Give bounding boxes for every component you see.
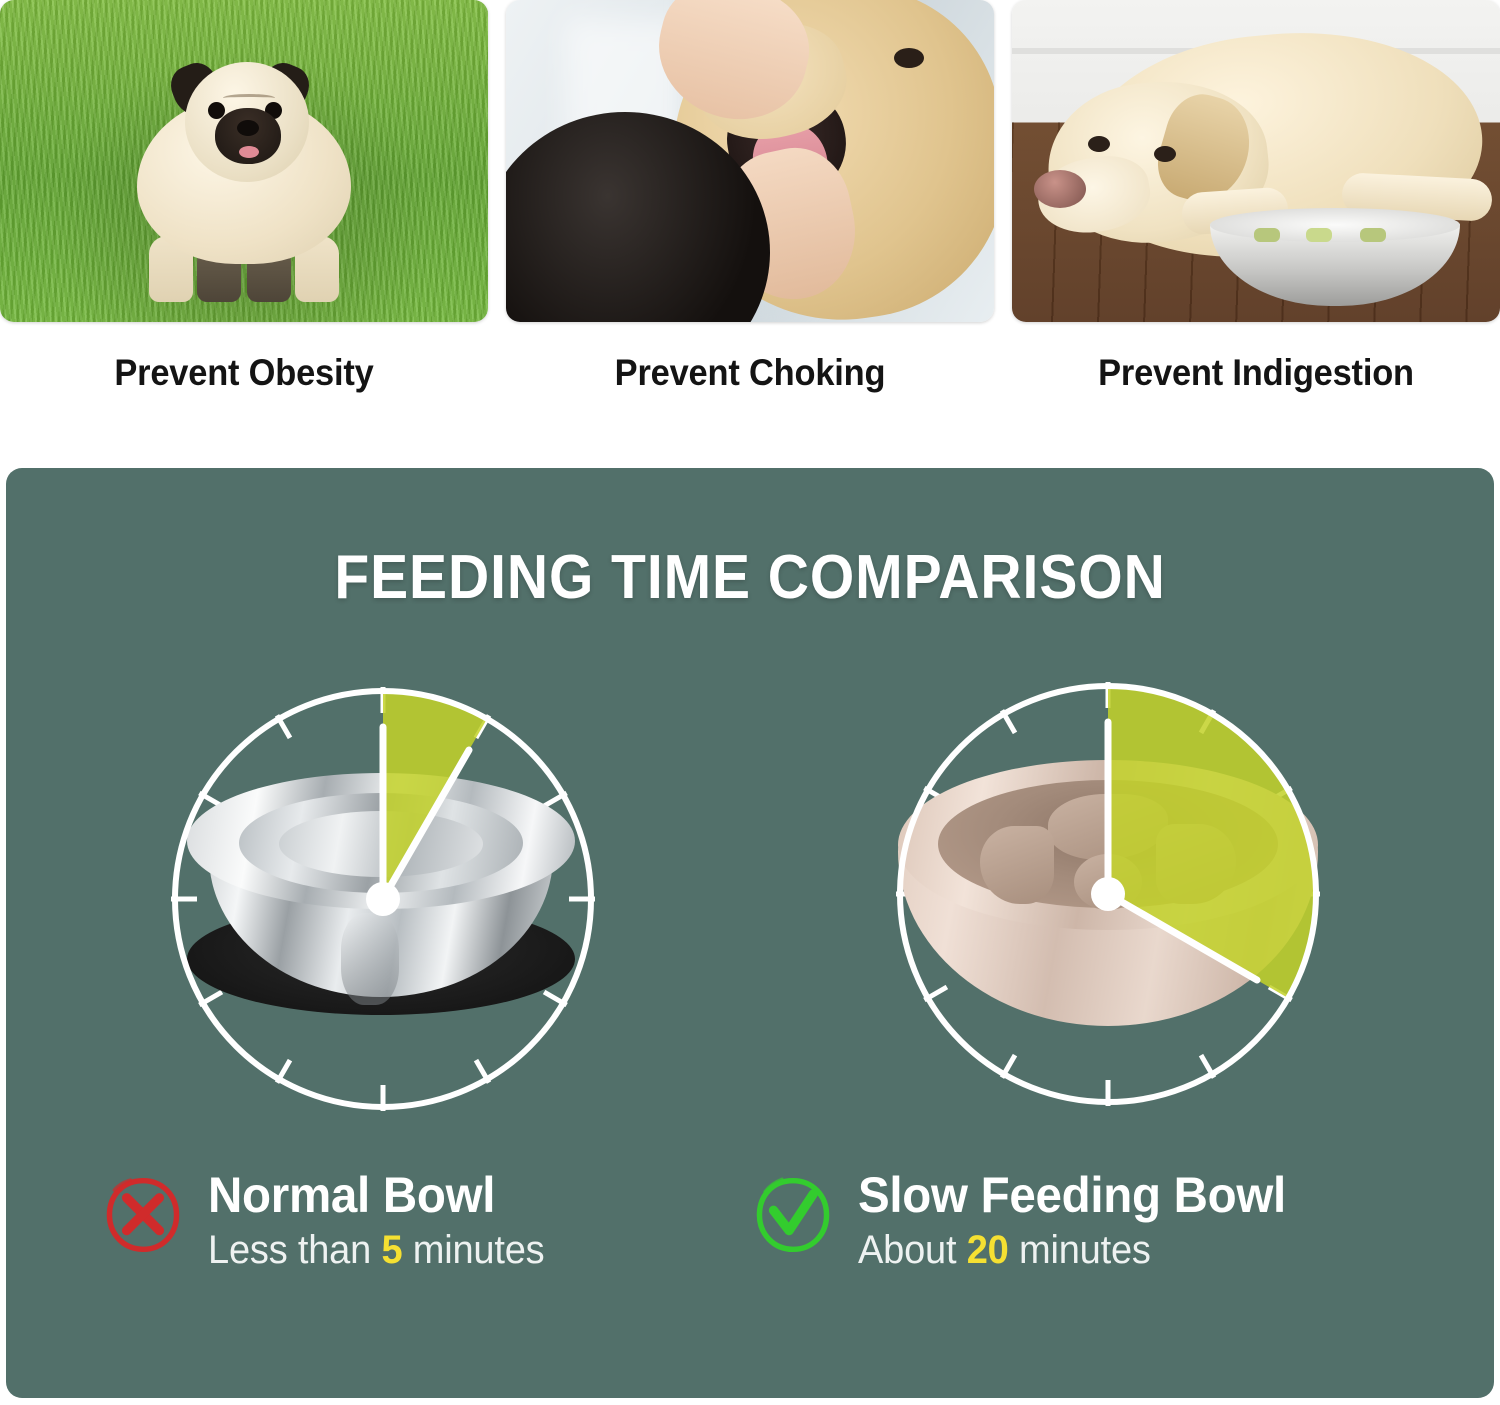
result-sub-prefix: Less than (208, 1228, 381, 1272)
pug-illustration (119, 46, 369, 296)
result-subtitle: About 20 minutes (858, 1228, 1286, 1273)
result-text-block: Slow Feeding Bowl About 20 minutes (858, 1168, 1308, 1273)
result-text-block: Normal Bowl Less than 5 minutes (208, 1168, 562, 1273)
dial-overlay-svg (163, 679, 603, 1119)
result-title: Normal Bowl (208, 1168, 544, 1222)
result-subtitle: Less than 5 minutes (208, 1228, 544, 1273)
benefit-card-prevent-obesity: Prevent Obesity (0, 0, 488, 440)
result-sub-suffix: minutes (402, 1228, 544, 1272)
page-title: FEEDING TIME COMPARISON (66, 468, 1435, 613)
result-normal-bowl: Normal Bowl Less than 5 minutes (104, 1168, 562, 1273)
dial-overlay-svg (888, 674, 1328, 1114)
pug-photo (0, 0, 488, 322)
dial-hub (366, 882, 400, 916)
result-title: Slow Feeding Bowl (858, 1168, 1286, 1222)
result-sub-value: 20 (967, 1228, 1009, 1272)
benefit-caption: Prevent Indigestion (1029, 352, 1483, 394)
feeding-time-comparison-panel: FEEDING TIME COMPARISON (6, 468, 1494, 1398)
results-row: Normal Bowl Less than 5 minutes Slow Fee… (6, 1168, 1494, 1348)
dial-slow-feeding-bowl (888, 674, 1328, 1114)
check-circle-icon (754, 1176, 832, 1254)
dials-row (6, 674, 1494, 1144)
dial-normal-bowl (163, 679, 603, 1119)
benefit-card-prevent-choking: Prevent Choking (506, 0, 994, 440)
result-sub-prefix: About (858, 1228, 967, 1272)
result-sub-value: 5 (381, 1228, 402, 1272)
dial-hub (1091, 877, 1125, 911)
result-sub-suffix: minutes (1009, 1228, 1151, 1272)
benefit-caption: Prevent Obesity (17, 352, 471, 394)
benefit-caption: Prevent Choking (523, 352, 977, 394)
benefit-card-prevent-indigestion: Prevent Indigestion (1012, 0, 1500, 440)
indigestion-photo (1012, 0, 1500, 322)
result-slow-feeding-bowl: Slow Feeding Bowl About 20 minutes (754, 1168, 1308, 1273)
x-circle-icon (104, 1176, 182, 1254)
benefits-row: Prevent Obesity Prevent Choking (0, 0, 1500, 440)
infographic-page: Prevent Obesity Prevent Choking (0, 0, 1500, 1405)
choking-photo (506, 0, 994, 322)
